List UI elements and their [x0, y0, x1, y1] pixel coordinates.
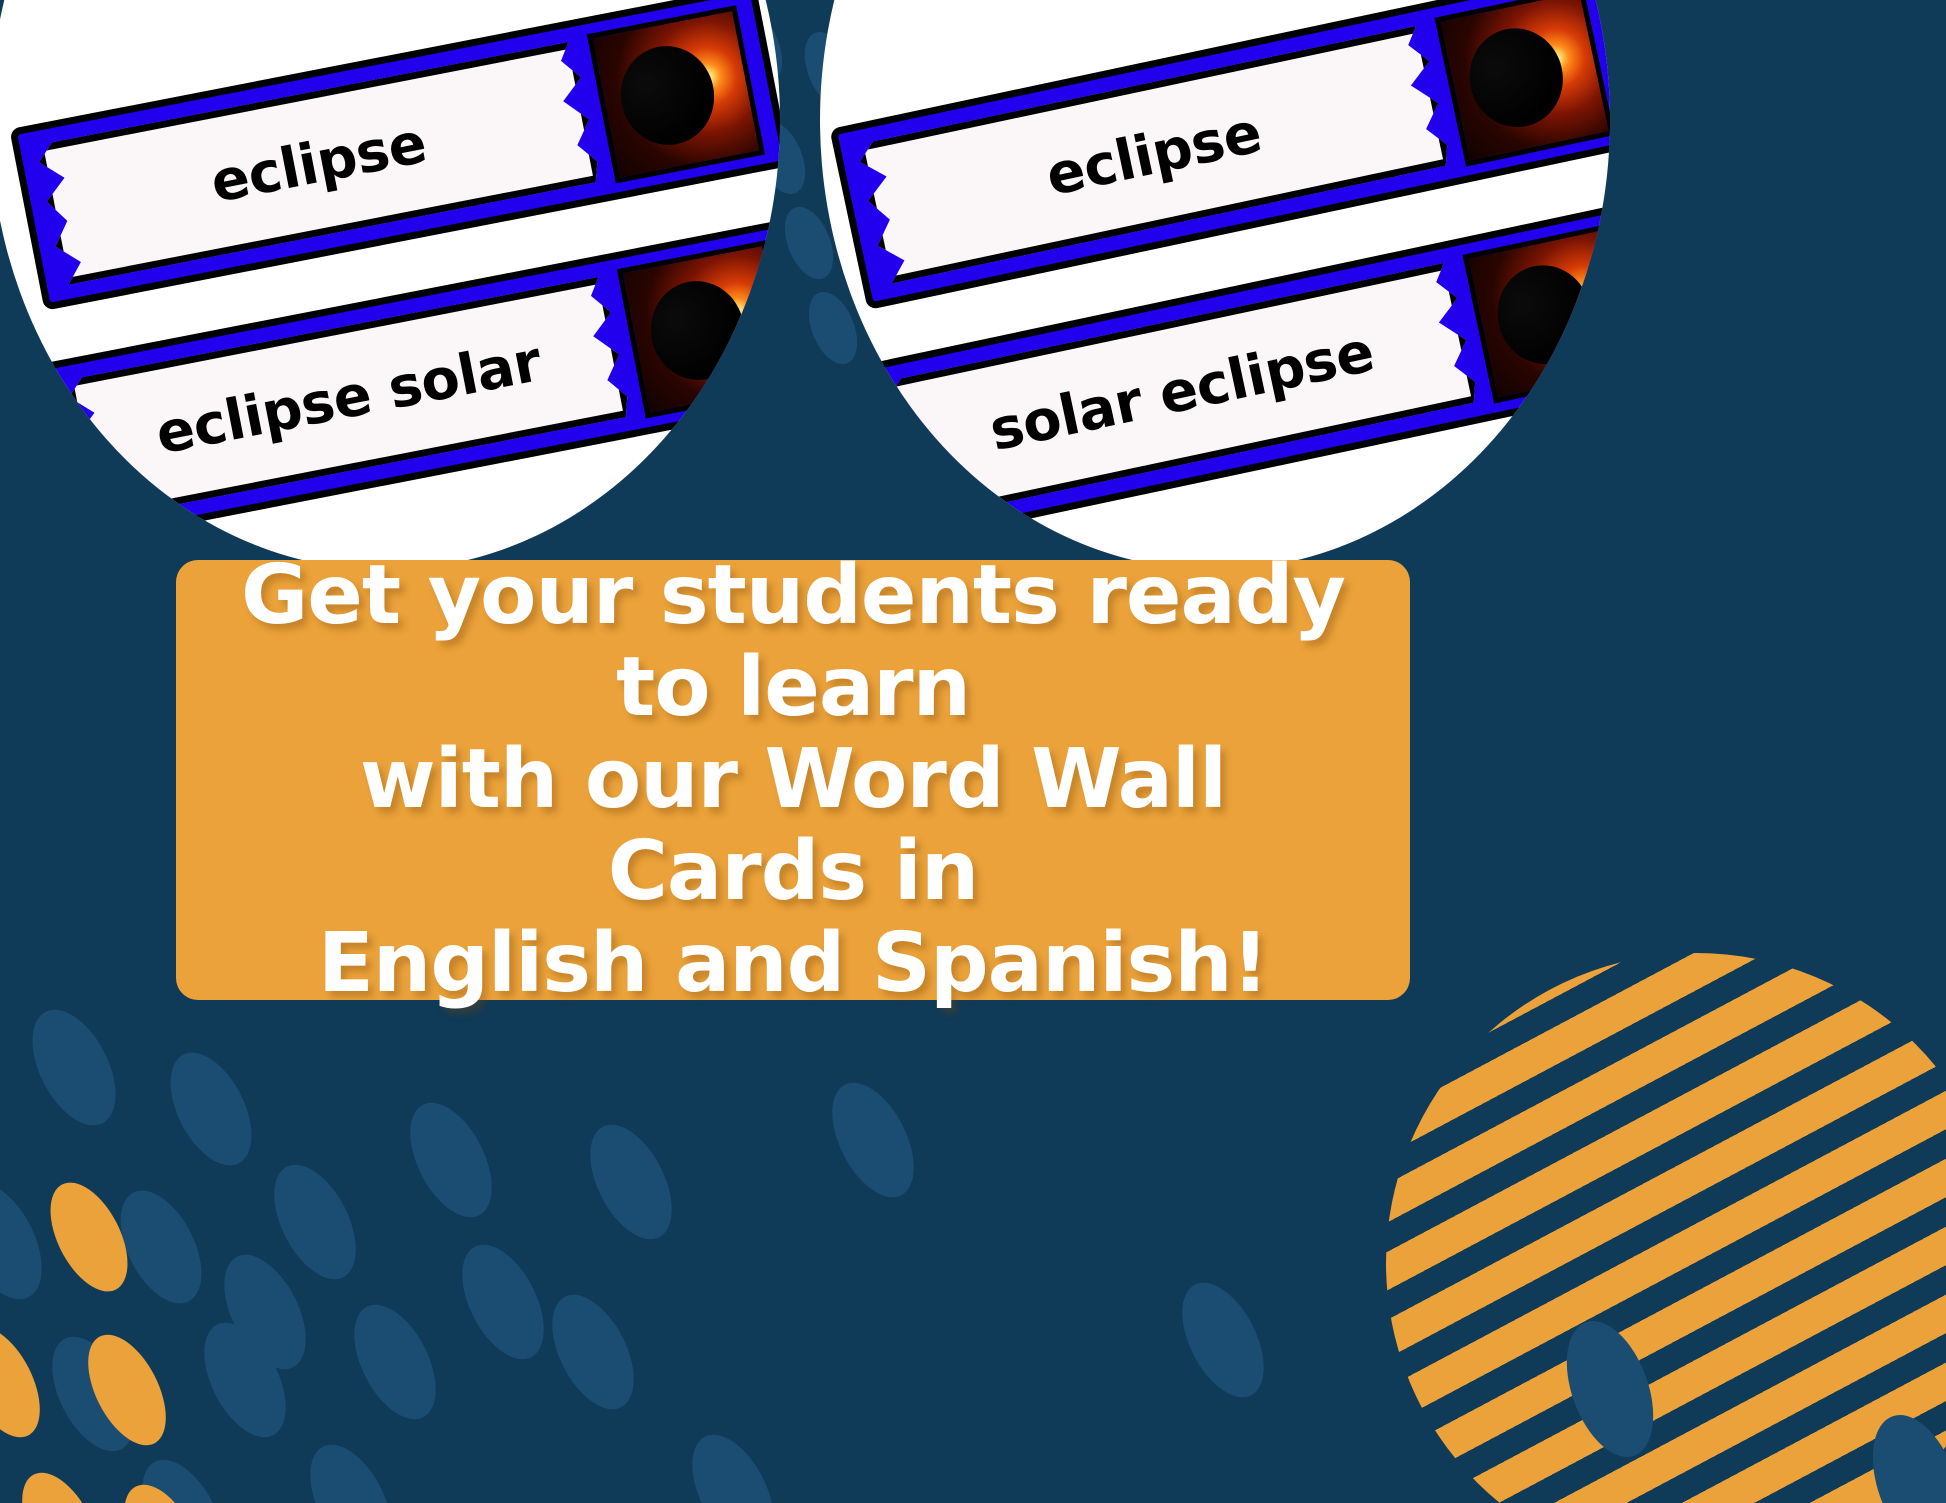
decor-dot-accent	[0, 1314, 56, 1449]
decor-dot	[207, 1242, 322, 1382]
decor-dot	[187, 1310, 302, 1450]
striped-fan-decoration	[1386, 953, 1946, 1503]
decor-dot	[393, 1090, 508, 1230]
word-card-text: eclipse	[1041, 100, 1267, 209]
word-card-label: eclipse	[36, 41, 601, 286]
word-card-label: eclipse solar	[66, 276, 631, 521]
decor-dot-accent	[6, 1460, 116, 1503]
word-card-text: eclipse solar	[151, 329, 547, 467]
decor-dot	[815, 1070, 930, 1210]
eclipse-thumbnail-icon	[617, 240, 780, 418]
decor-dot	[337, 1292, 452, 1432]
eclipse-thumbnail-icon	[1434, 0, 1610, 166]
decor-dot-accent	[35, 1170, 144, 1303]
poster-canvas: eclipse eclipse solar eclipse	[0, 0, 1946, 1503]
card-stack-right: eclipse solar eclipse	[820, 0, 1610, 570]
decor-dot-accent	[108, 1472, 218, 1503]
decor-dot	[445, 1232, 560, 1372]
headline-text: Get your students ready to learn with ou…	[234, 550, 1352, 1009]
decor-dot	[154, 1040, 268, 1179]
english-word-wall-photo: eclipse solar eclipse	[820, 0, 1610, 570]
headline-banner: Get your students ready to learn with ou…	[176, 560, 1410, 1000]
decor-dot	[104, 1178, 218, 1317]
spanish-word-wall-photo: eclipse eclipse solar	[0, 0, 780, 570]
decor-dot	[15, 996, 132, 1138]
word-card-label: eclipse	[856, 25, 1451, 285]
decor-dot	[1165, 1270, 1280, 1410]
word-card-text: solar eclipse	[984, 319, 1379, 464]
decor-dot	[675, 1422, 790, 1503]
word-card-label: solar eclipse	[884, 262, 1479, 522]
decor-dot	[0, 1169, 59, 1312]
headline-line-3: English and Spanish!	[318, 916, 1268, 1011]
decor-dot	[293, 1432, 408, 1503]
headline-line-2: with our Word Wall Cards in	[360, 732, 1226, 919]
decor-dot	[535, 1282, 650, 1422]
decor-dot	[257, 1152, 372, 1292]
fan-stripes	[1386, 953, 1946, 1503]
card-stack-left: eclipse eclipse solar	[0, 0, 780, 570]
decor-dot-accent	[72, 1322, 182, 1457]
word-card-text: eclipse	[206, 111, 432, 216]
decor-dot	[125, 1447, 240, 1503]
eclipse-thumbnail-icon	[1462, 223, 1610, 403]
decor-dot	[573, 1112, 688, 1252]
headline-line-1: Get your students ready to learn	[241, 548, 1345, 735]
eclipse-thumbnail-icon	[587, 5, 765, 183]
decor-dot	[35, 1324, 150, 1464]
